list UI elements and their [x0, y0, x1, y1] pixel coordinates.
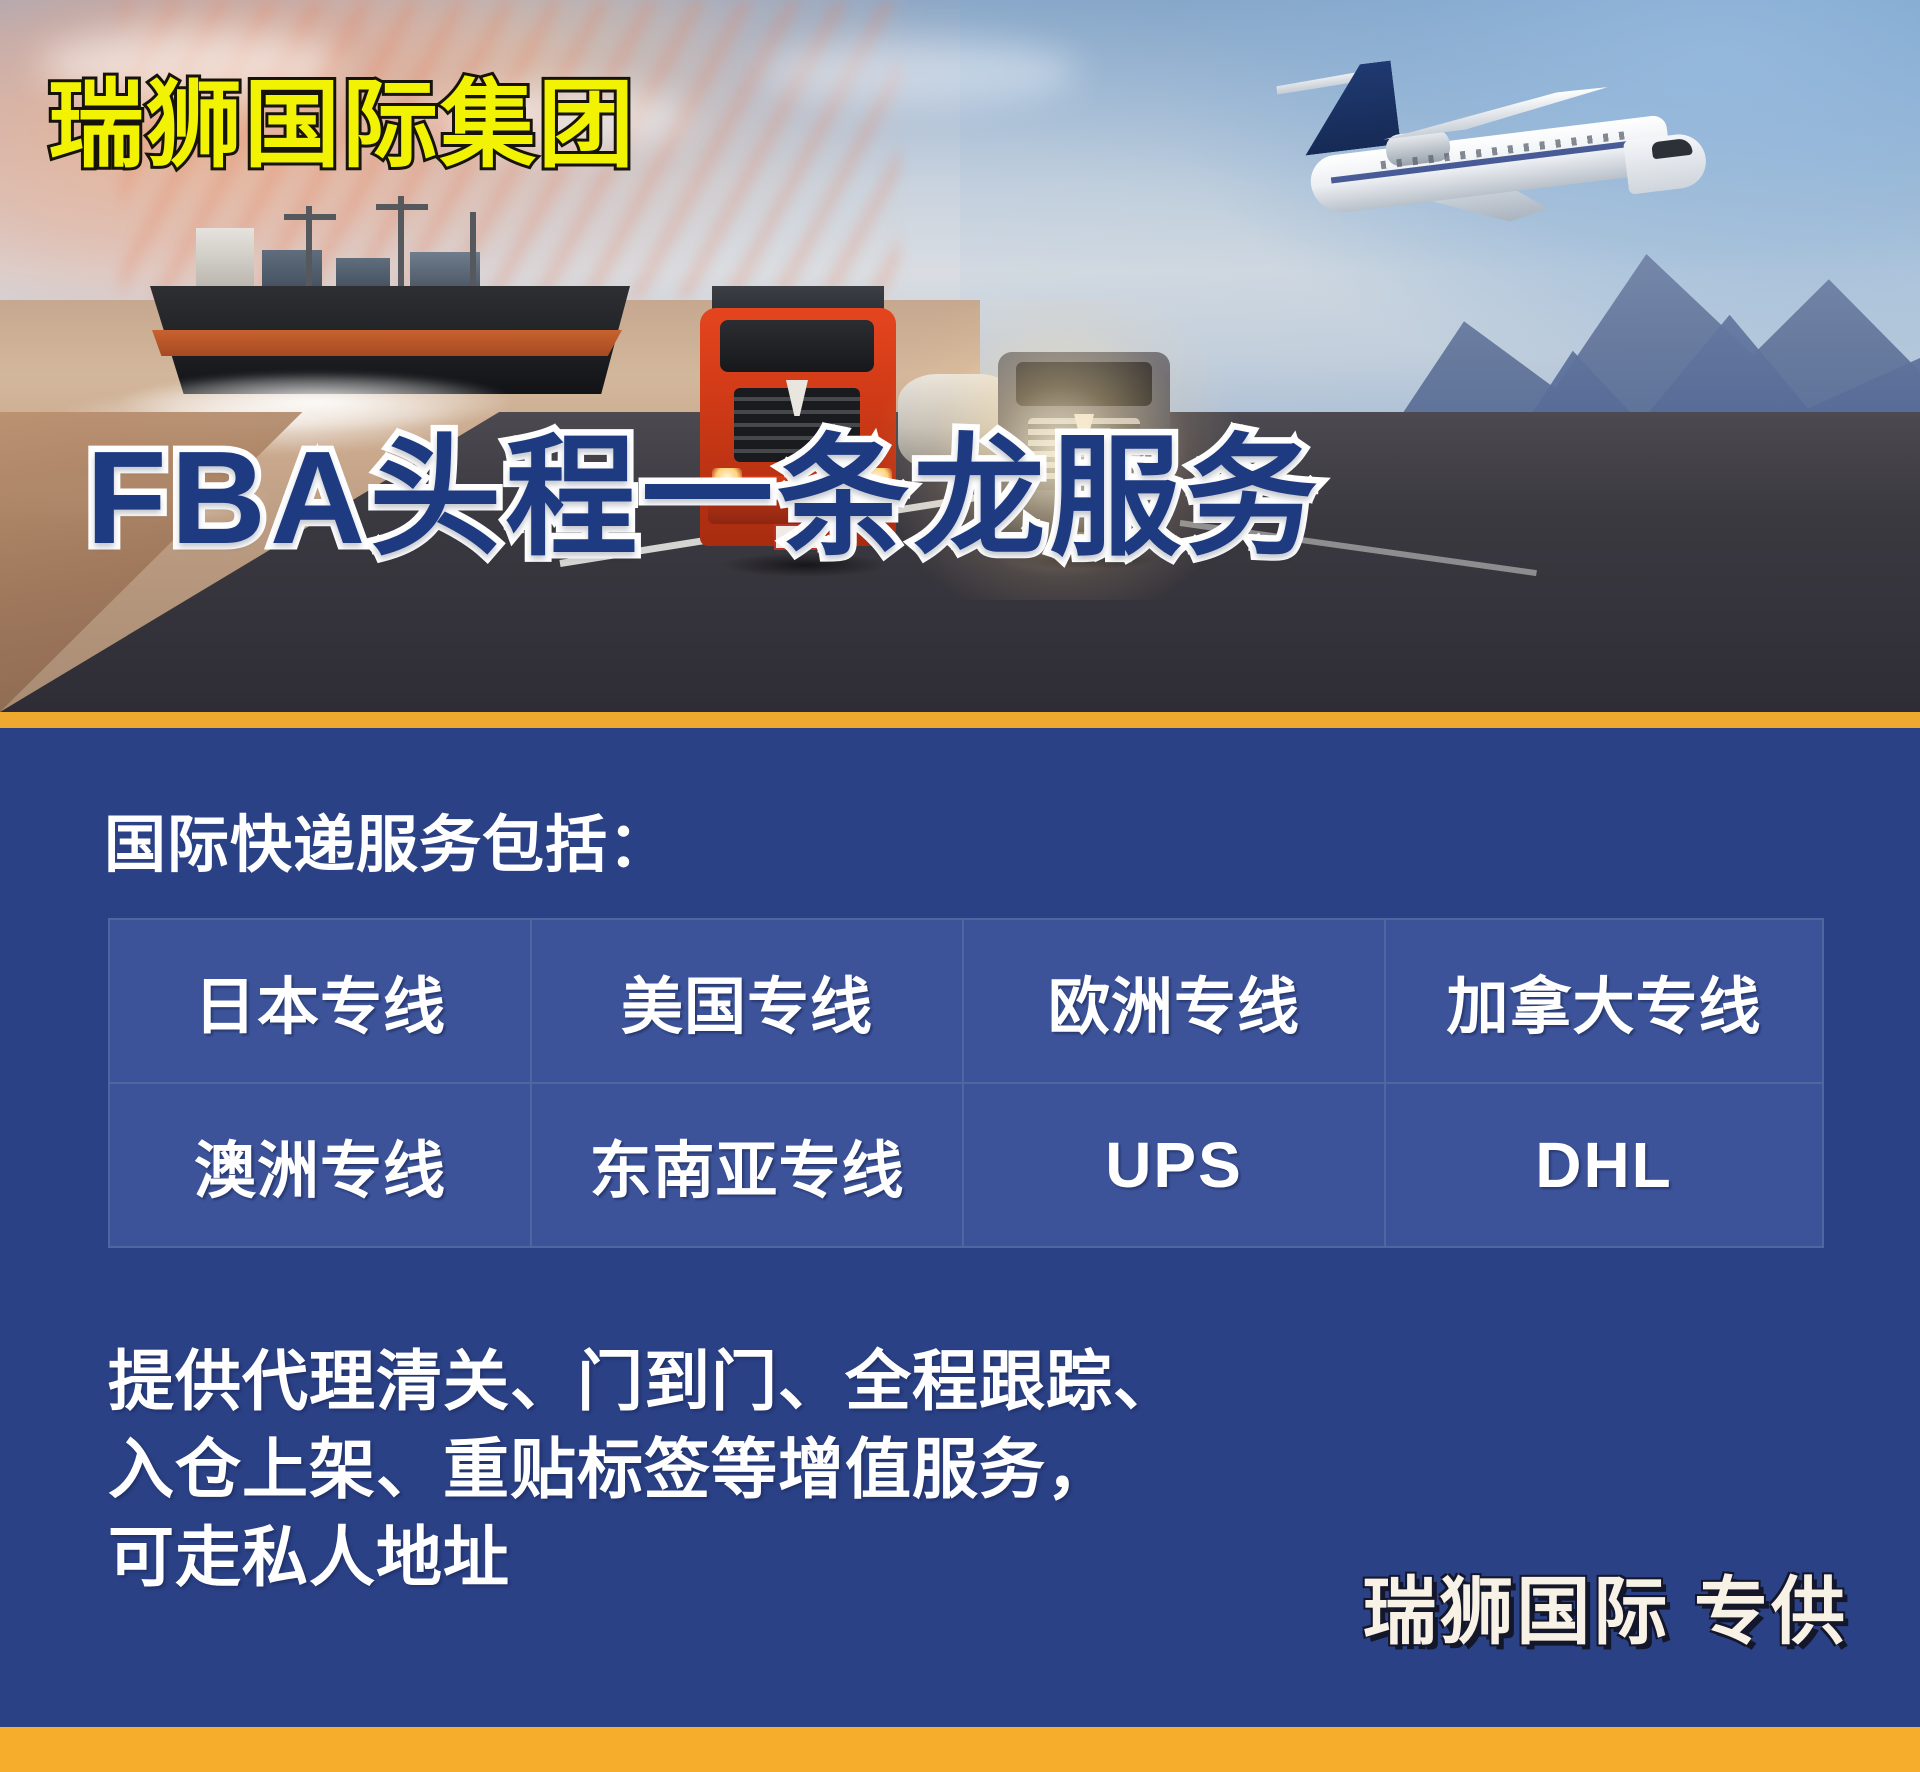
service-cell-japan: 日本专线: [109, 919, 531, 1083]
service-cell-australia: 澳洲专线: [109, 1083, 531, 1247]
hero-headline: FBA头程一条龙服务: [86, 432, 1321, 564]
body-line-2: 入仓上架、重贴标签等增值服务，: [108, 1426, 1180, 1514]
value-added-services-copy: 提供代理清关、门到门、全程跟踪、 入仓上架、重贴标签等增值服务， 可走私人地址: [108, 1338, 1180, 1601]
bottom-orange-bar: [0, 1727, 1920, 1772]
brand-logo: 瑞狮国际集团: [48, 78, 636, 174]
service-lines-table: 日本专线 美国专线 欧洲专线 加拿大专线 澳洲专线 东南亚专线 UPS DHL: [108, 918, 1824, 1248]
table-row: 澳洲专线 东南亚专线 UPS DHL: [109, 1083, 1823, 1247]
service-cell-dhl: DHL: [1385, 1083, 1823, 1247]
airplane-icon: [1270, 40, 1700, 250]
panel-heading: 国际快递服务包括：: [104, 794, 671, 884]
info-panel: 国际快递服务包括： 日本专线 美国专线 欧洲专线 加拿大专线 澳洲专线 东南亚专…: [0, 728, 1920, 1727]
orange-divider: [0, 712, 1920, 728]
body-line-1: 提供代理清关、门到门、全程跟踪、: [108, 1338, 1180, 1426]
poster: 瑞狮国际集团 FBA头程一条龙服务 国际快递服务包括： 日本专线 美国专线 欧洲…: [0, 0, 1920, 1772]
service-cell-ups: UPS: [963, 1083, 1385, 1247]
service-cell-canada: 加拿大专线: [1385, 919, 1823, 1083]
brand-signature: 瑞狮国际 专供: [1362, 1552, 1848, 1659]
service-cell-europe: 欧洲专线: [963, 919, 1385, 1083]
cloud-icon: [760, 40, 1080, 104]
service-cell-usa: 美国专线: [531, 919, 963, 1083]
table-row: 日本专线 美国专线 欧洲专线 加拿大专线: [109, 919, 1823, 1083]
hero-image: 瑞狮国际集团 FBA头程一条龙服务: [0, 0, 1920, 712]
service-cell-southeast-asia: 东南亚专线: [531, 1083, 963, 1247]
body-line-3: 可走私人地址: [108, 1514, 1180, 1602]
